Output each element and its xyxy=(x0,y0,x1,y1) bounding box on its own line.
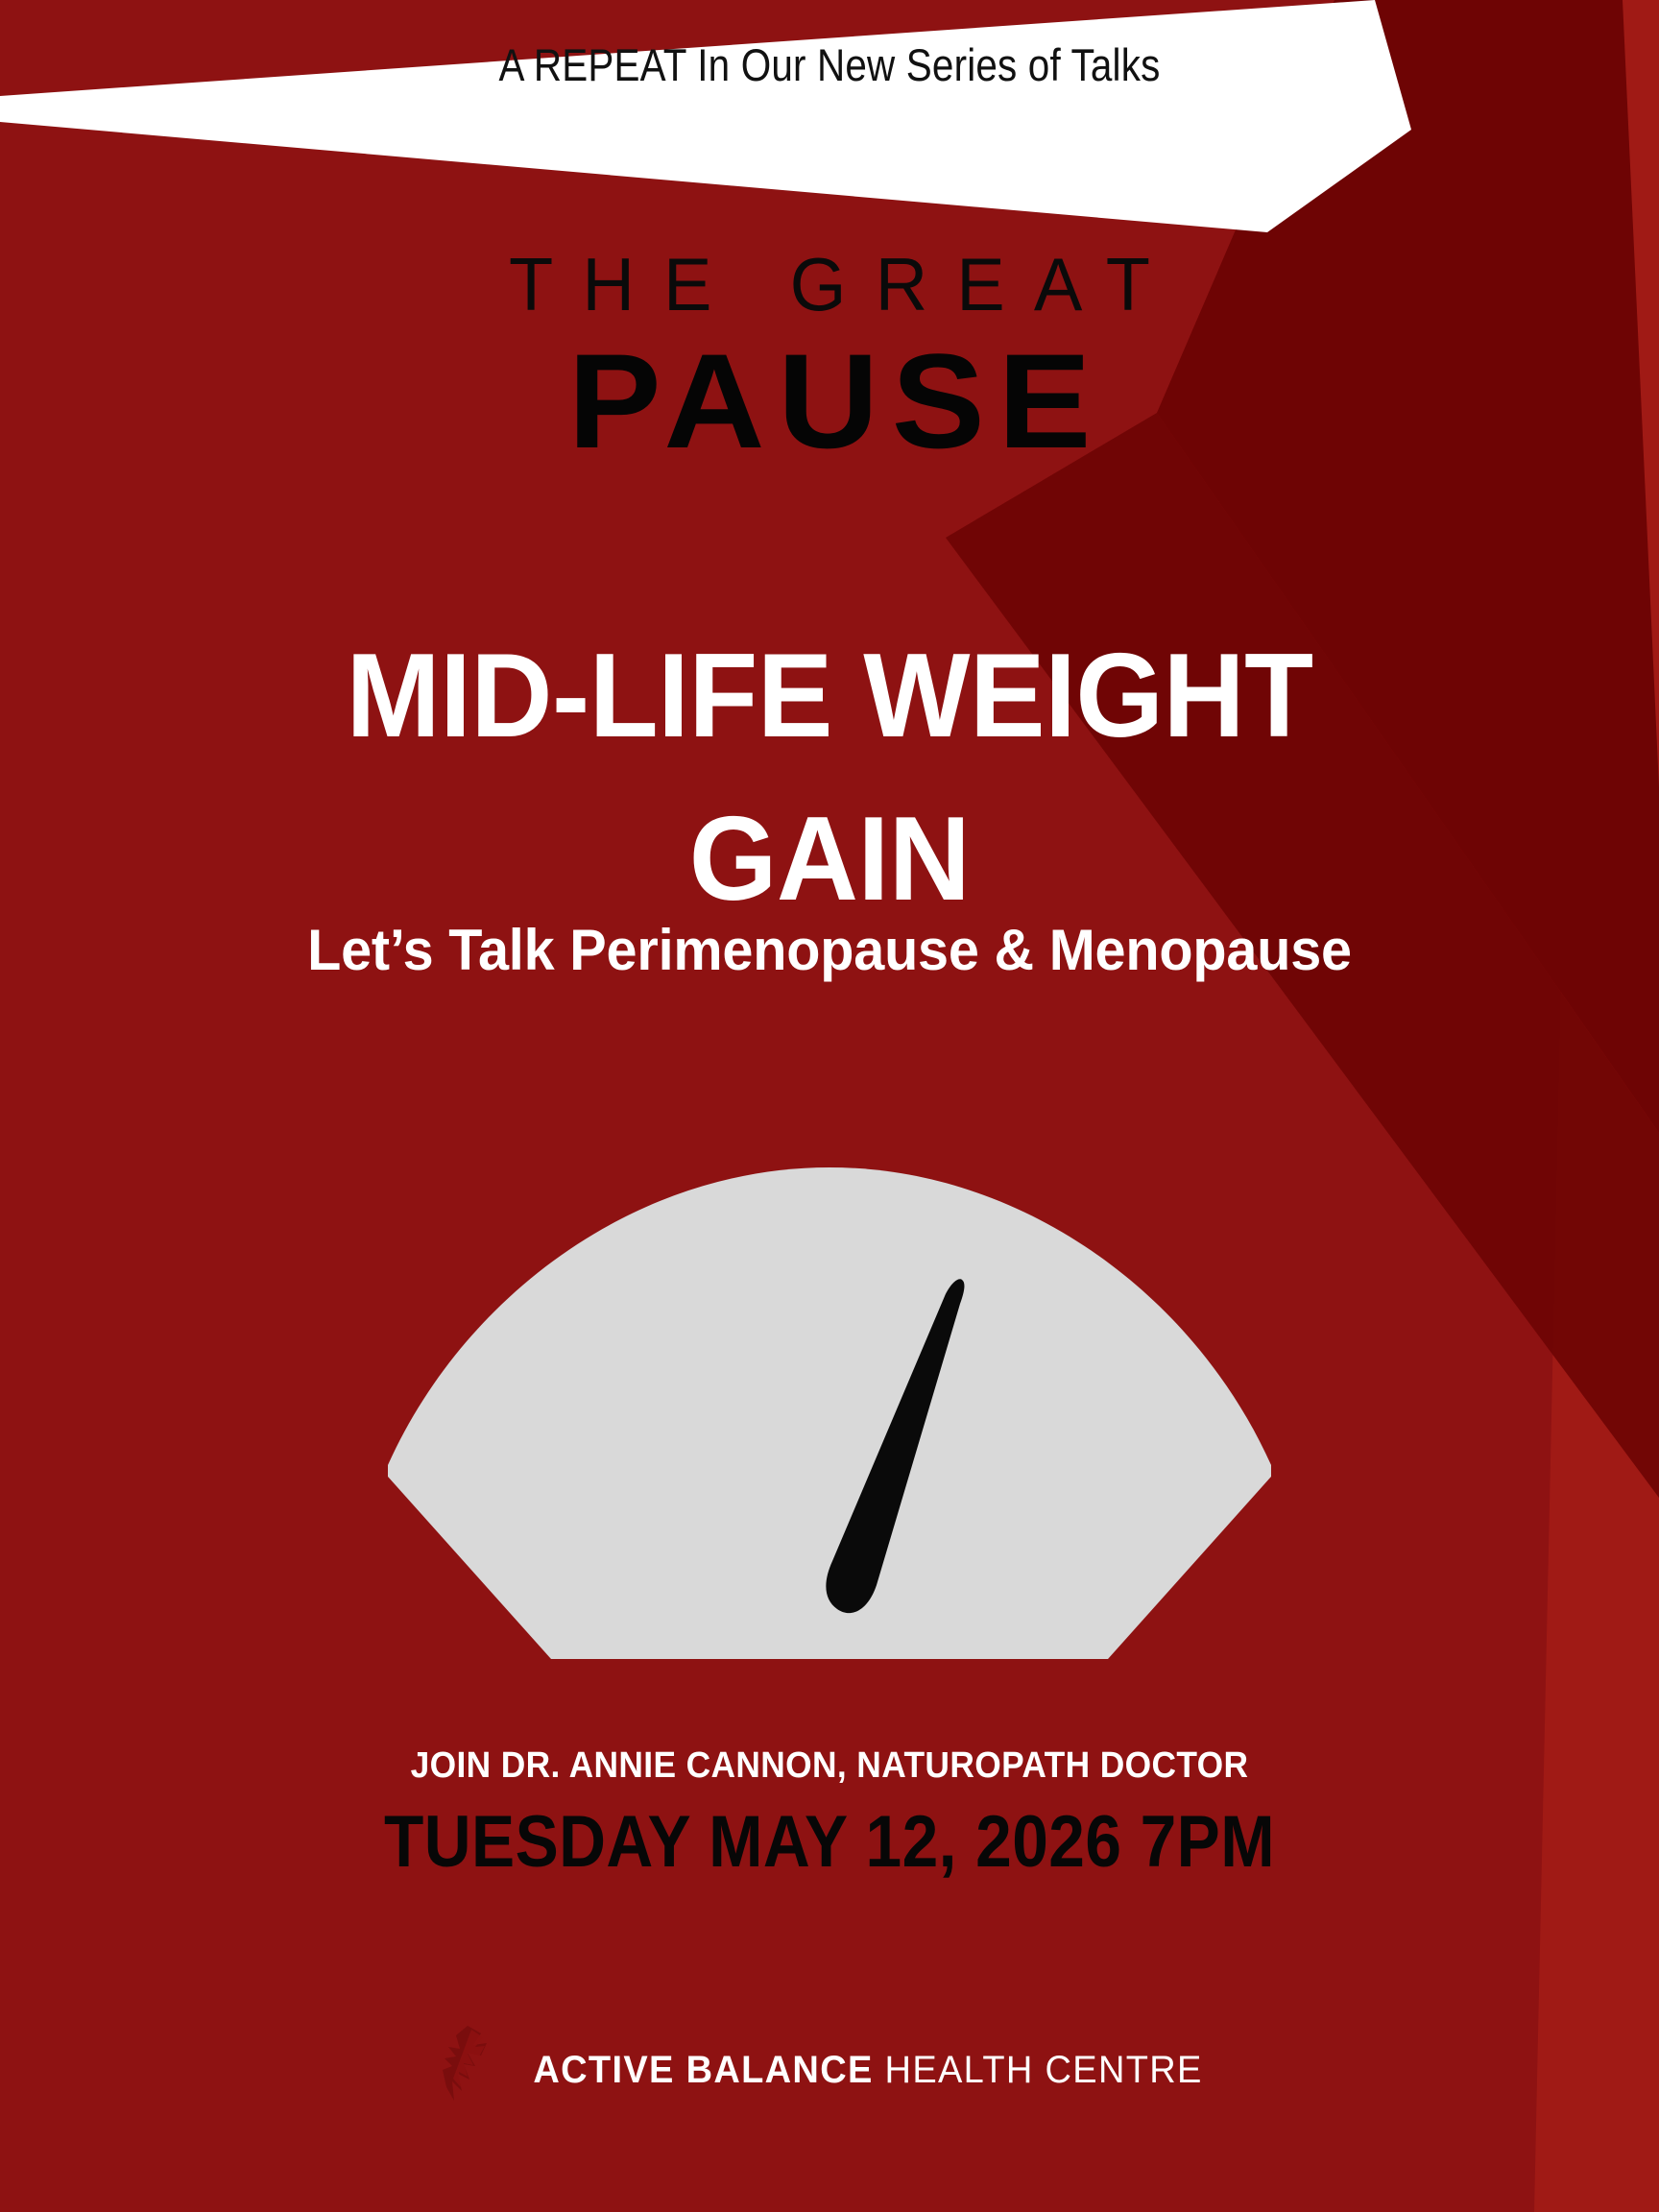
gauge-graphic xyxy=(349,1160,1310,1697)
banner-text: A REPEAT In Our New Series of Talks xyxy=(116,38,1543,91)
active-balance-figure-mark-icon xyxy=(439,2024,500,2116)
speedometer-gauge-icon xyxy=(349,1160,1310,1697)
logo-wordmark: ACTIVE BALANCE HEALTH CENTRE xyxy=(533,2051,1202,2089)
series-title-block: THE GREAT PAUSE xyxy=(0,242,1659,467)
logo-name-strong: ACTIVE BALANCE xyxy=(533,2049,873,2091)
event-datetime-line: TUESDAY MAY 12, 2026 7PM xyxy=(91,1800,1568,1884)
logo-lockup[interactable]: ACTIVE BALANCE HEALTH CENTRE xyxy=(0,2024,1659,2116)
series-title-main: PAUSE xyxy=(0,336,1659,467)
headline-line-1: MID-LIFE WEIGHT xyxy=(156,614,1503,778)
series-title-kicker: THE GREAT xyxy=(25,242,1634,326)
presenter-line: JOIN DR. ANNIE CANNON, NATUROPATH DOCTOR xyxy=(58,1745,1600,1787)
logo-name-light: HEALTH CENTRE xyxy=(885,2049,1203,2091)
headline-block: MID-LIFE WEIGHT GAIN xyxy=(156,614,1503,941)
poster-canvas: A REPEAT In Our New Series of Talks THE … xyxy=(0,0,1659,2212)
headline-subhead: Let’s Talk Perimenopause & Menopause xyxy=(150,917,1510,983)
